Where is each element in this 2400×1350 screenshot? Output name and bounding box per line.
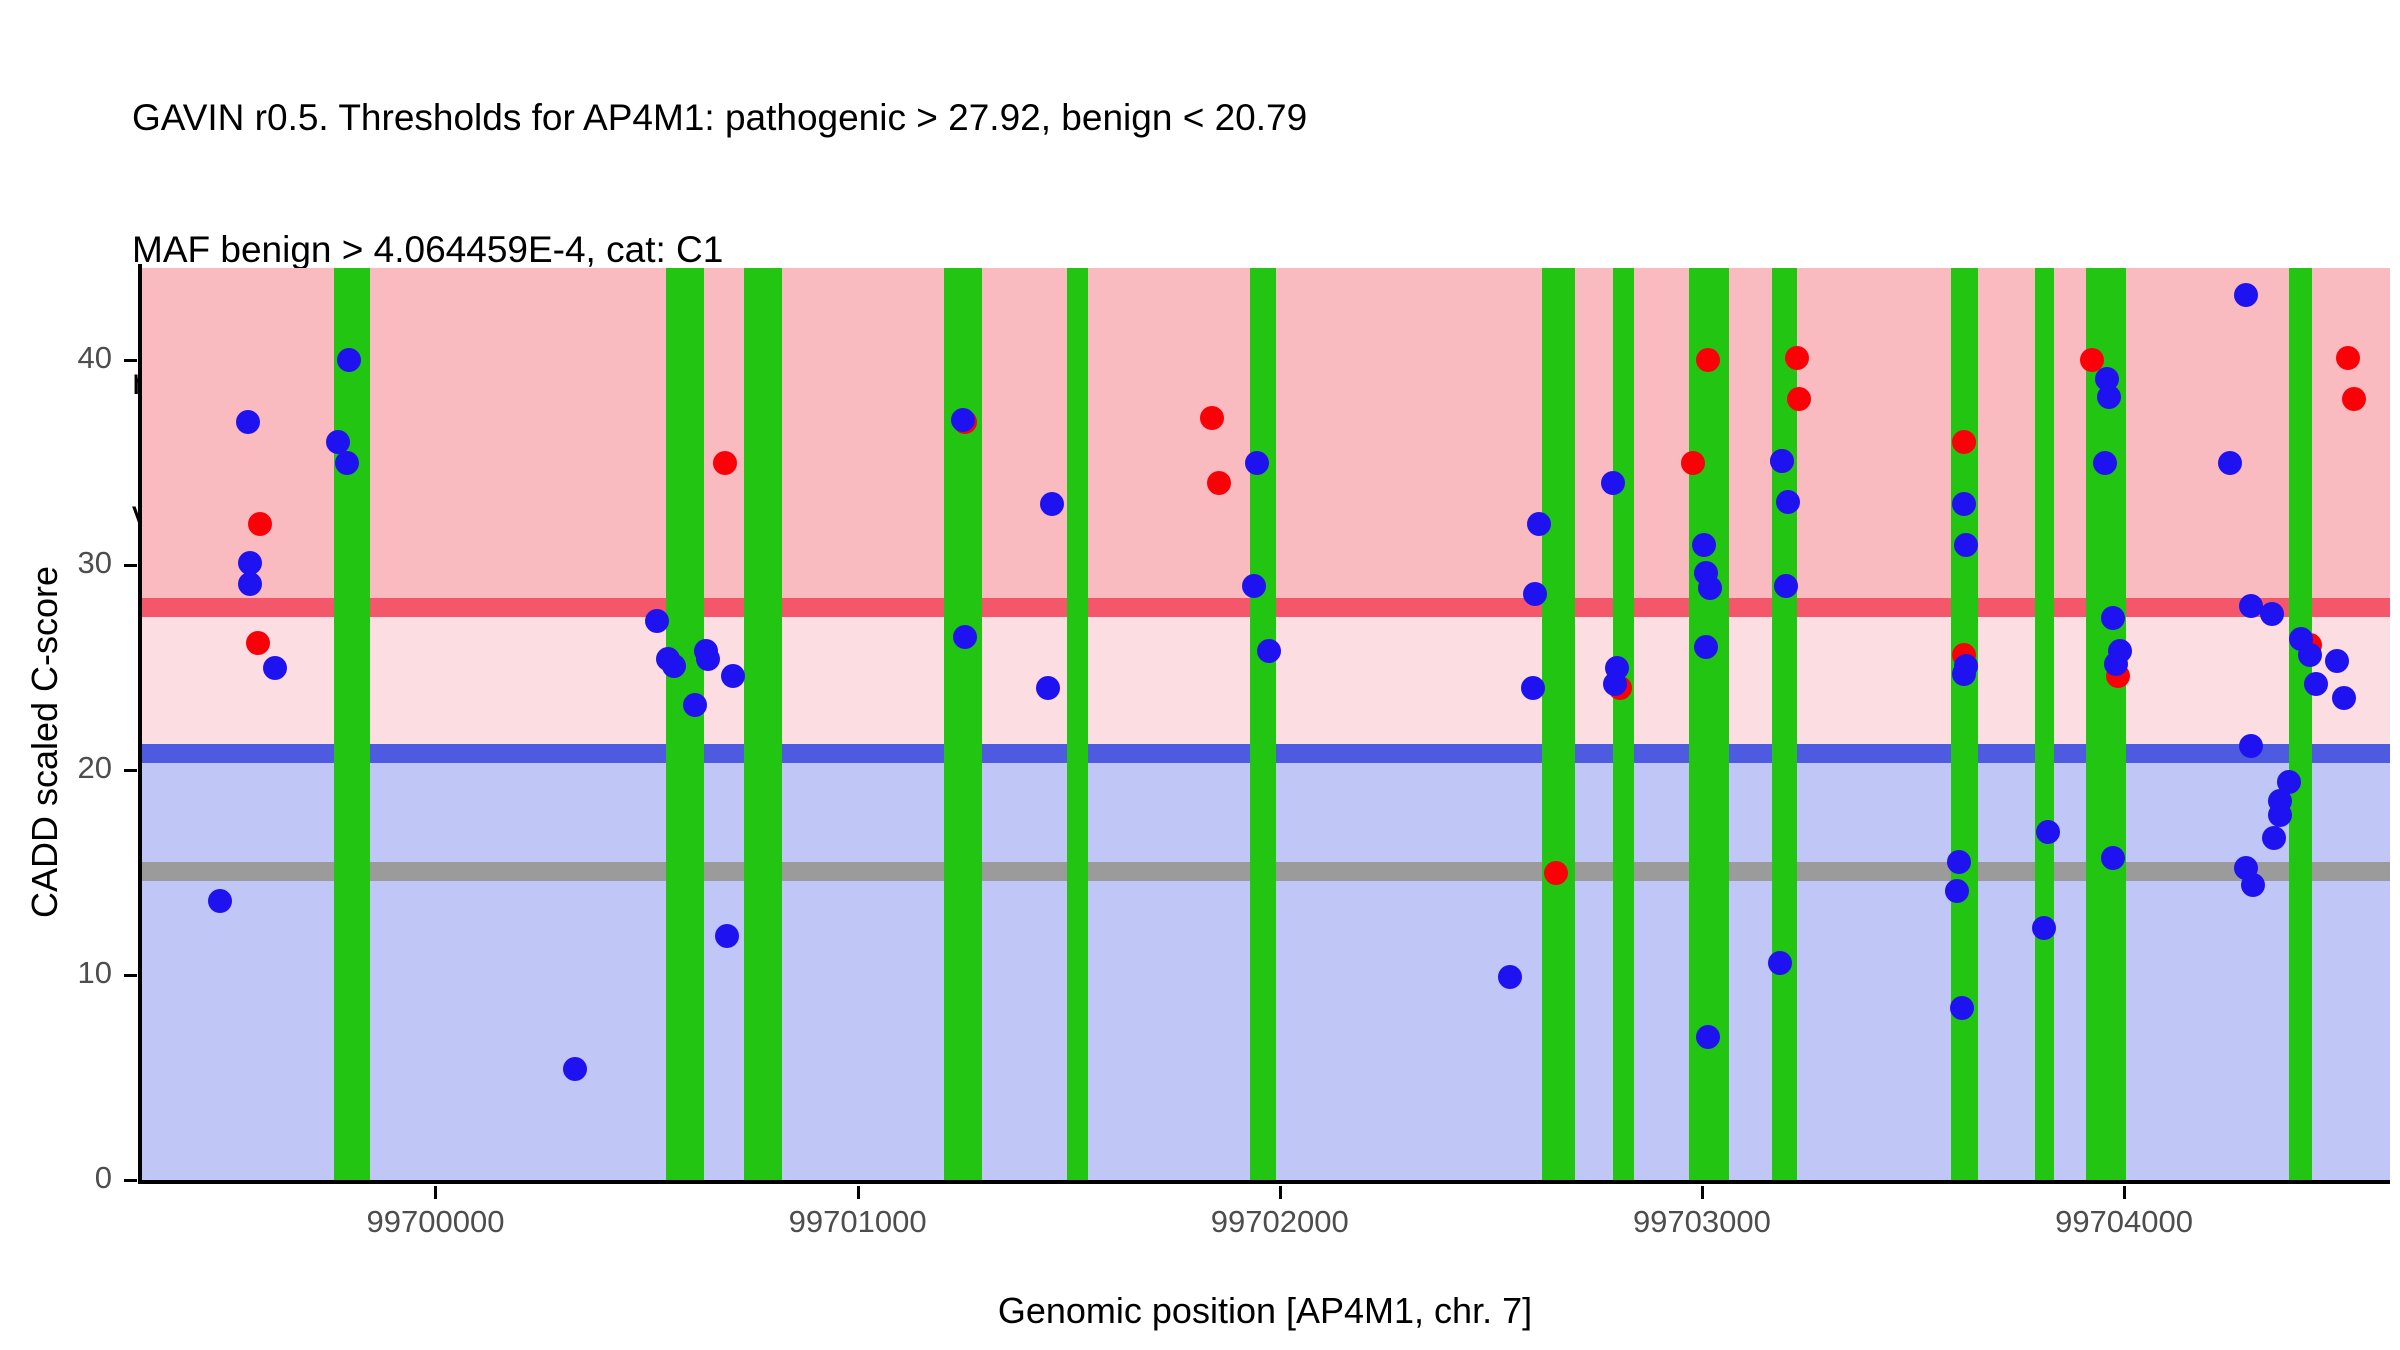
gnomad-point [1036,676,1060,700]
exon-bar [1250,268,1275,1180]
gnomad-point [645,609,669,633]
gnomad-point [2104,652,2128,676]
pathogenic-point [2336,346,2360,370]
exon-bar [1542,268,1576,1180]
gnomad-point [1698,576,1722,600]
gnomad-point [1768,951,1792,975]
exon-bar [666,268,704,1180]
x-axis-label: Genomic position [AP4M1, chr. 7] [140,1290,2390,1332]
gnomad-point [2218,451,2242,475]
gnomad-point [1774,574,1798,598]
gnomad-point [953,625,977,649]
y-tick-label: 0 [42,1160,112,1196]
pathogenic-point [1787,387,1811,411]
x-tick-mark [857,1186,860,1199]
pathogenic-point [1785,346,1809,370]
gnomad-point [951,408,975,432]
exon-bar [334,268,370,1180]
exon-bar [944,268,982,1180]
gnomad-point [1696,1025,1720,1049]
pathogenic-point [713,451,737,475]
gnomad-point [2262,826,2286,850]
x-tick-label: 99701000 [728,1204,988,1240]
gnomad-point [683,693,707,717]
x-tick-mark [434,1186,437,1199]
y-axis-line [138,264,142,1184]
x-tick-label: 99700000 [305,1204,565,1240]
y-tick-mark [124,974,137,977]
gnomad-point [563,1057,587,1081]
gnomad-point [662,654,686,678]
gnomad-point [263,656,287,680]
gnomad-point [1040,492,1064,516]
x-tick-label: 99702000 [1150,1204,1410,1240]
pathogenic-point [1200,406,1224,430]
gnomad-point [238,572,262,596]
y-tick-mark [124,564,137,567]
pathogenic-point [1544,861,1568,885]
pathogenic-point [1207,471,1231,495]
x-tick-mark [2123,1186,2126,1199]
exon-bar [744,268,782,1180]
gnomad-point [2298,643,2322,667]
y-tick-mark [124,1179,137,1182]
y-tick-label: 30 [42,545,112,581]
x-tick-mark [1701,1186,1704,1199]
title-line-1: GAVIN r0.5. Thresholds for AP4M1: pathog… [132,96,2332,140]
gnomad-point [337,348,361,372]
exon-bar [1613,268,1634,1180]
gnomad-point [2032,916,2056,940]
gnomad-point [2234,283,2258,307]
gnomad-point [2304,672,2328,696]
gnomad-point [2093,451,2117,475]
gnomad-point [335,451,359,475]
exon-bar [2289,268,2312,1180]
gnomad-point [1692,533,1716,557]
gnomad-point [1954,533,1978,557]
gnomad-point [2241,873,2265,897]
gnomad-point [2260,602,2284,626]
exon-bar [1951,268,1978,1180]
gnomad-point [2036,820,2060,844]
exon-bar [1067,268,1088,1180]
y-tick-label: 40 [42,340,112,376]
x-tick-label: 99703000 [1572,1204,1832,1240]
gnomad-point [715,924,739,948]
y-tick-mark [124,769,137,772]
plot-root: GAVIN r0.5. Thresholds for AP4M1: pathog… [0,0,2400,1350]
pathogenic-point [1681,451,1705,475]
gnomad-point [1770,449,1794,473]
pathogenic-point [1952,430,1976,454]
gnomad-point [1952,492,1976,516]
x-tick-label: 99704000 [1994,1204,2254,1240]
gnomad-point [1523,582,1547,606]
y-axis-label: CADD scaled C-score [24,287,74,1197]
y-tick-mark [124,359,137,362]
x-tick-mark [1279,1186,1282,1199]
gnomad-point [1521,676,1545,700]
gnomad-point [1950,996,1974,1020]
gnomad-point [1776,490,1800,514]
gnomad-point [1242,574,1266,598]
gnomad-point [2239,734,2263,758]
x-axis-line [138,1180,2390,1184]
exon-bar [2035,268,2054,1180]
gnomad-point [1245,451,1269,475]
gnomad-point [1498,965,1522,989]
y-tick-label: 20 [42,750,112,786]
gnomad-point [1952,662,1976,686]
gnomad-point [236,410,260,434]
gnomad-point [721,664,745,688]
title-line-2: MAF benign > 4.064459E-4, cat: C1 [132,228,2332,272]
y-tick-label: 10 [42,955,112,991]
gnomad-point [2332,686,2356,710]
plot-panel [140,268,2390,1180]
